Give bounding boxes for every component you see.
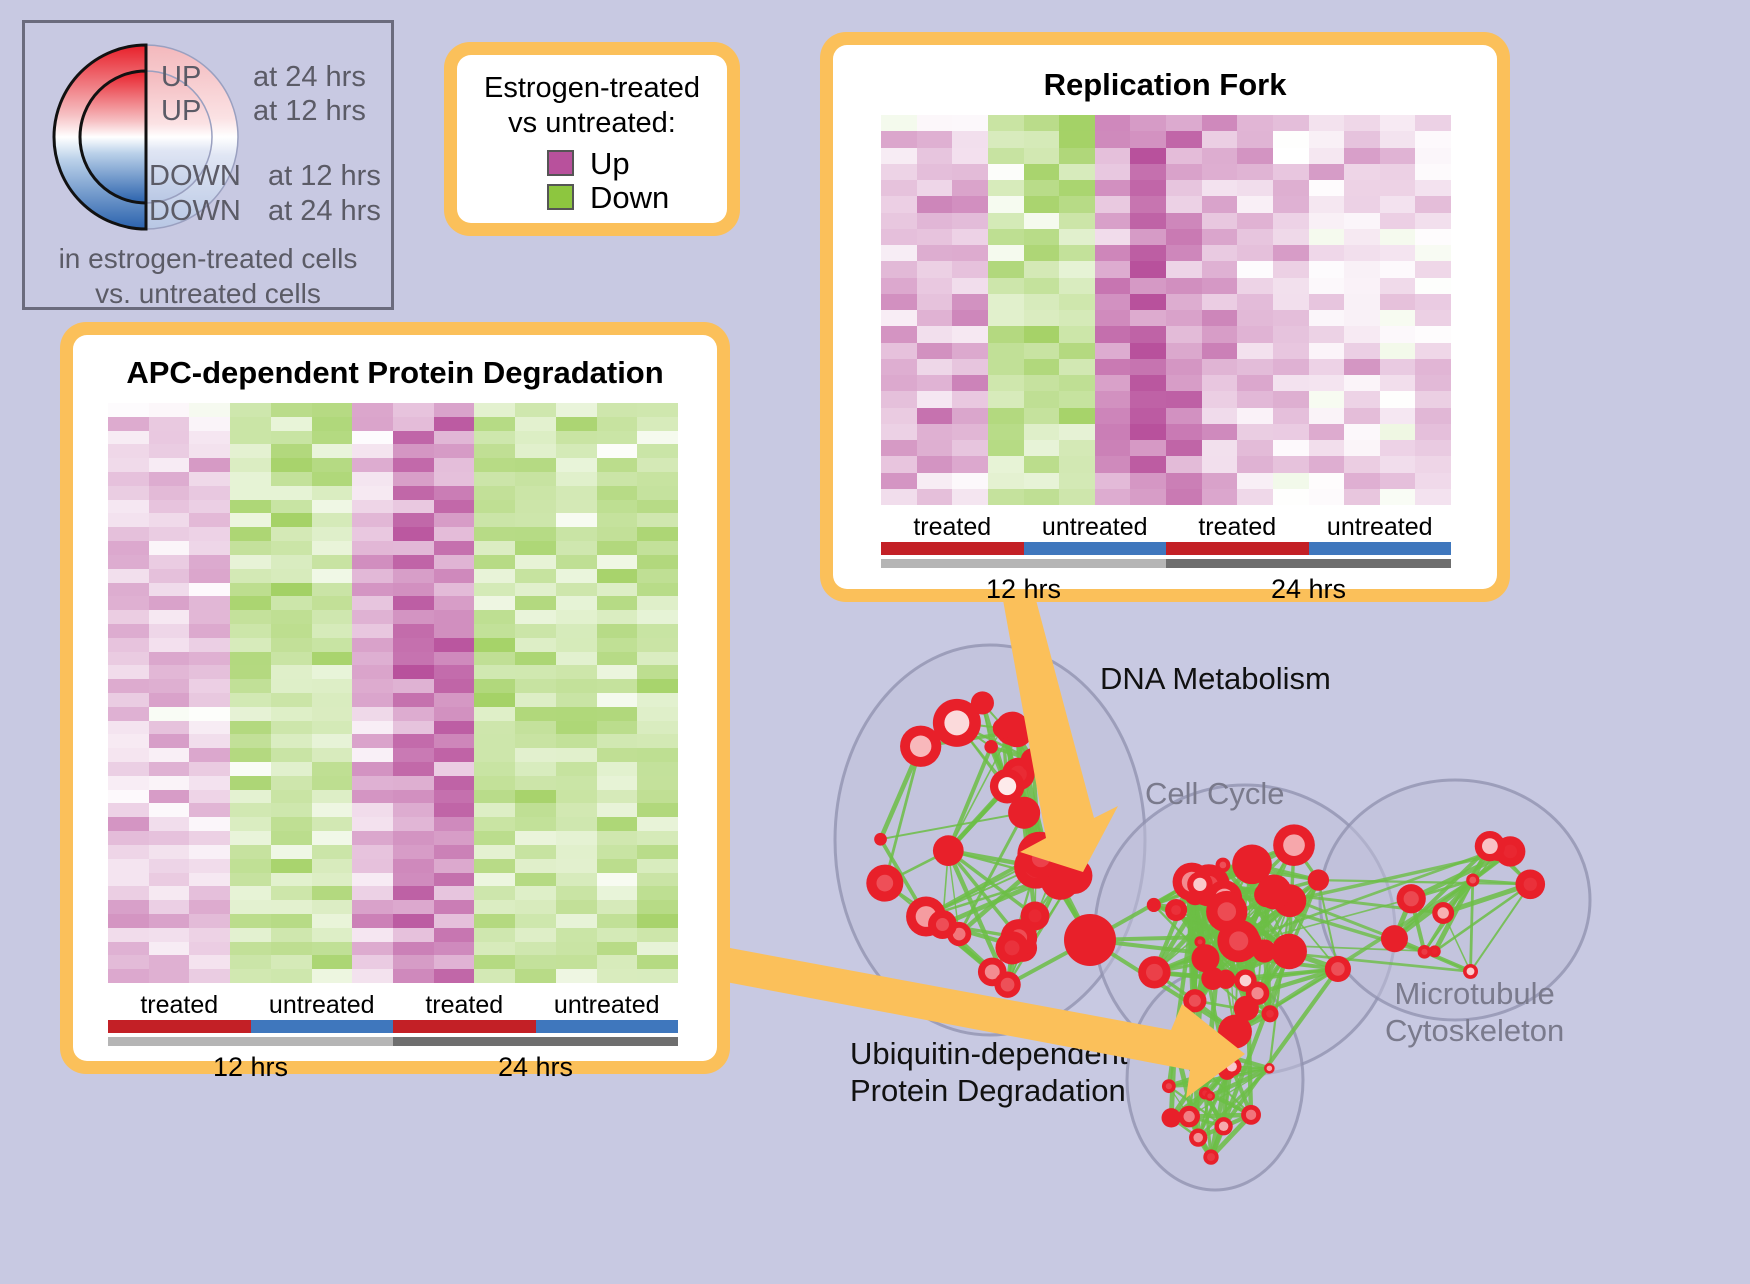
network-node-core: [1331, 962, 1345, 976]
heatmap-cell: [988, 310, 1024, 326]
heatmap-cell: [1273, 278, 1309, 294]
heatmap-cell: [637, 969, 678, 983]
heatmap-cell: [515, 831, 556, 845]
heatmap-cell: [1309, 326, 1345, 342]
heatmap-cell: [952, 326, 988, 342]
heatmap-cell: [149, 513, 190, 527]
heatmap-cell: [1202, 391, 1238, 407]
heatmap-cell: [556, 624, 597, 638]
heatmap-cell: [434, 458, 475, 472]
heatmap-cell: [108, 845, 149, 859]
heatmap-cell: [352, 444, 393, 458]
heatmap-cell: [515, 403, 556, 417]
heatmap-cell: [637, 721, 678, 735]
heatmap-cell: [1024, 148, 1060, 164]
heatmap-cell: [312, 803, 353, 817]
heatmap-cell: [1024, 245, 1060, 261]
heatmap-cell: [597, 942, 638, 956]
heatmap-cell: [149, 665, 190, 679]
heatmap-cell: [881, 180, 917, 196]
heatmap-cell: [917, 343, 953, 359]
heatmap-cell: [1273, 391, 1309, 407]
heatmap-cell: [597, 665, 638, 679]
heatmap-cell: [597, 624, 638, 638]
apc-treatment-bar: [108, 1020, 678, 1033]
heatmap-cell: [189, 886, 230, 900]
rf-treatment-bar: [881, 542, 1451, 555]
heatmap-cell: [189, 707, 230, 721]
heatmap-cell: [393, 527, 434, 541]
heatmap-cell: [474, 914, 515, 928]
heatmap-cell: [1415, 440, 1451, 456]
heatmap-cell: [149, 886, 190, 900]
heatmap-cell: [881, 375, 917, 391]
heatmap-cell: [1059, 278, 1095, 294]
heatmap-cell: [637, 583, 678, 597]
heatmap-cell: [988, 343, 1024, 359]
circle-key-box: UP at 24 hrs UP at 12 hrs DOWN at 12 hrs…: [22, 20, 394, 310]
heatmap-cell: [597, 610, 638, 624]
heatmap-cell: [434, 513, 475, 527]
heatmap-cell: [393, 831, 434, 845]
heatmap-cell: [271, 500, 312, 514]
heatmap-cell: [881, 131, 917, 147]
heatmap-cell: [149, 969, 190, 983]
heatmap-cell: [1024, 213, 1060, 229]
heatmap-cell: [393, 900, 434, 914]
heatmap-cell: [597, 555, 638, 569]
heatmap-cell: [434, 886, 475, 900]
heatmap-cell: [271, 472, 312, 486]
heatmap-cell: [312, 693, 353, 707]
heatmap-cell: [556, 969, 597, 983]
heatmap-cell: [1095, 278, 1131, 294]
heatmap-cell: [434, 955, 475, 969]
heatmap-cell: [352, 665, 393, 679]
heatmap-cell: [352, 596, 393, 610]
heatmap-cell: [1059, 261, 1095, 277]
heatmap-cell: [515, 859, 556, 873]
legend-item-up: Up: [547, 148, 713, 179]
heatmap-cell: [312, 403, 353, 417]
heatmap-cell: [434, 652, 475, 666]
heatmap-cell: [271, 624, 312, 638]
heatmap-cell: [1166, 456, 1202, 472]
heatmap-cell: [597, 790, 638, 804]
heatmap-cell: [597, 569, 638, 583]
heatmap-cell: [352, 527, 393, 541]
heatmap-cell: [434, 693, 475, 707]
heatmap-cell: [271, 748, 312, 762]
heatmap-cell: [1309, 278, 1345, 294]
heatmap-cell: [1415, 326, 1451, 342]
heatmap-cell: [1024, 440, 1060, 456]
heatmap-cell: [597, 873, 638, 887]
heatmap-cell: [988, 229, 1024, 245]
heatmap-cell: [149, 776, 190, 790]
heatmap-cell: [312, 596, 353, 610]
heatmap-cell: [1309, 424, 1345, 440]
network-node-core: [1524, 878, 1537, 891]
heatmap-cell: [515, 610, 556, 624]
heatmap-cell: [917, 408, 953, 424]
heatmap-cell: [1380, 115, 1416, 131]
heatmap-cell: [230, 886, 271, 900]
heatmap-cell: [352, 555, 393, 569]
legend-items: Up Down: [471, 148, 713, 213]
heatmap-cell: [1309, 164, 1345, 180]
heatmap-cell: [1237, 115, 1273, 131]
heatmap-cell: [352, 831, 393, 845]
heatmap-cell: [1130, 326, 1166, 342]
heatmap-cell: [1130, 391, 1166, 407]
heatmap-cell: [230, 472, 271, 486]
heatmap-cell: [1059, 375, 1095, 391]
heatmap-cell: [108, 900, 149, 914]
heatmap-cell: [189, 873, 230, 887]
heatmap-cell: [597, 707, 638, 721]
heatmap-cell: [230, 610, 271, 624]
heatmap-cell: [515, 555, 556, 569]
heatmap-cell: [597, 417, 638, 431]
heatmap-cell: [1059, 456, 1095, 472]
key-time-2: at 12 hrs: [268, 160, 381, 193]
heatmap-cell: [556, 886, 597, 900]
heatmap-cell: [1237, 375, 1273, 391]
heatmap-cell: [1166, 310, 1202, 326]
heatmap-cell: [637, 652, 678, 666]
heatmap-cell: [312, 638, 353, 652]
heatmap-cell: [1059, 326, 1095, 342]
heatmap-cell: [988, 148, 1024, 164]
heatmap-cell: [393, 803, 434, 817]
heatmap-cell: [108, 817, 149, 831]
heatmap-cell: [1059, 196, 1095, 212]
heatmap-cell: [952, 456, 988, 472]
heatmap-cell: [312, 859, 353, 873]
heatmap-cell: [556, 817, 597, 831]
heatmap-cell: [597, 900, 638, 914]
heatmap-cell: [352, 638, 393, 652]
heatmap-cell: [1166, 213, 1202, 229]
rf-timebar-0: [881, 559, 1166, 568]
heatmap-cell: [474, 665, 515, 679]
heatmap-cell: [1273, 180, 1309, 196]
heatmap-cell: [597, 513, 638, 527]
heatmap-cell: [149, 431, 190, 445]
heatmap-cell: [1309, 196, 1345, 212]
heatmap-cell: [556, 652, 597, 666]
network-node: [1021, 748, 1045, 772]
heatmap-cell: [149, 417, 190, 431]
heatmap-cell: [1380, 375, 1416, 391]
heatmap-cell: [952, 391, 988, 407]
heatmap-cell: [352, 776, 393, 790]
heatmap-cell: [352, 859, 393, 873]
heatmap-cell: [1166, 473, 1202, 489]
heatmap-cell: [952, 408, 988, 424]
heatmap-cell: [393, 845, 434, 859]
heatmap-cell: [1380, 180, 1416, 196]
heatmap-cell: [952, 261, 988, 277]
heatmap-cell: [189, 734, 230, 748]
heatmap-cell: [393, 790, 434, 804]
heatmap-cell: [230, 638, 271, 652]
network-node-core: [1193, 1133, 1203, 1143]
heatmap-cell: [556, 859, 597, 873]
heatmap-cell: [393, 610, 434, 624]
heatmap-cell: [597, 458, 638, 472]
heatmap-cell: [474, 583, 515, 597]
heatmap-cell: [597, 679, 638, 693]
heatmap-cell: [515, 458, 556, 472]
heatmap-cell: [230, 831, 271, 845]
heatmap-cell: [230, 790, 271, 804]
heatmap-cell: [1344, 326, 1380, 342]
heatmap-cell: [1273, 473, 1309, 489]
heatmap-cell: [1202, 294, 1238, 310]
legend-swatch-up-icon: [547, 150, 574, 176]
heatmap-cell: [556, 942, 597, 956]
heatmap-cell: [1024, 391, 1060, 407]
heatmap-cell: [149, 652, 190, 666]
heatmap-cell: [637, 776, 678, 790]
heatmap-cell: [1166, 148, 1202, 164]
network-node-core: [1432, 949, 1437, 954]
heatmap-cell: [189, 969, 230, 983]
heatmap-cell: [1059, 408, 1095, 424]
network-node: [1257, 874, 1292, 909]
heatmap-cell: [988, 408, 1024, 424]
heatmap-cell: [393, 707, 434, 721]
apc-time-label-0: 12 hrs: [108, 1046, 393, 1083]
heatmap-cell: [271, 845, 312, 859]
heatmap-cell: [1344, 440, 1380, 456]
heatmap-cell: [189, 748, 230, 762]
heatmap-cell: [312, 734, 353, 748]
network-node-core: [1240, 975, 1252, 987]
heatmap-cell: [952, 180, 988, 196]
heatmap-cell: [1237, 440, 1273, 456]
heatmap-cell: [1166, 294, 1202, 310]
heatmap-cell: [1273, 343, 1309, 359]
heatmap-cell: [271, 431, 312, 445]
heatmap-cell: [1095, 148, 1131, 164]
heatmap-cell: [189, 555, 230, 569]
heatmap-cell: [988, 375, 1024, 391]
heatmap-cell: [189, 803, 230, 817]
heatmap-cell: [881, 424, 917, 440]
heatmap-cell: [515, 707, 556, 721]
network-node-core: [1437, 907, 1448, 918]
heatmap-cell: [434, 486, 475, 500]
heatmap-cell: [352, 900, 393, 914]
heatmap-cell: [474, 969, 515, 983]
heatmap-cell: [1202, 375, 1238, 391]
heatmap-cell: [393, 431, 434, 445]
heatmap-cell: [352, 845, 393, 859]
heatmap-cell: [952, 148, 988, 164]
heatmap-cell: [230, 721, 271, 735]
heatmap-cell: [1309, 229, 1345, 245]
heatmap-cell: [1344, 489, 1380, 505]
heatmap-cell: [597, 776, 638, 790]
heatmap-cell: [515, 928, 556, 942]
heatmap-cell: [1237, 229, 1273, 245]
heatmap-cell: [1273, 196, 1309, 212]
replication-fork-panel: Replication Fork treated untreated treat…: [820, 32, 1510, 602]
network-node: [933, 835, 964, 866]
heatmap-cell: [597, 831, 638, 845]
heatmap-cell: [1059, 148, 1095, 164]
heatmap-cell: [881, 489, 917, 505]
heatmap-cell: [149, 527, 190, 541]
heatmap-cell: [881, 196, 917, 212]
heatmap-cell: [393, 679, 434, 693]
heatmap-cell: [474, 693, 515, 707]
heatmap-cell: [1344, 278, 1380, 294]
heatmap-cell: [108, 569, 149, 583]
heatmap-cell: [1095, 310, 1131, 326]
heatmap-cell: [556, 596, 597, 610]
heatmap-cell: [434, 942, 475, 956]
heatmap-cell: [393, 734, 434, 748]
heatmap-cell: [637, 748, 678, 762]
heatmap-cell: [1166, 229, 1202, 245]
heatmap-cell: [393, 513, 434, 527]
network-node-core: [1404, 891, 1419, 906]
heatmap-cell: [474, 652, 515, 666]
heatmap-cell: [1237, 343, 1273, 359]
apc-group-label-1: untreated: [251, 991, 394, 1020]
heatmap-cell: [108, 472, 149, 486]
heatmap-cell: [149, 624, 190, 638]
heatmap-cell: [556, 583, 597, 597]
heatmap-cell: [230, 803, 271, 817]
network-node: [1234, 996, 1259, 1021]
apc-degradation-axis: treated untreated treated untreated 12 h: [108, 991, 678, 1083]
heatmap-cell: [352, 914, 393, 928]
heatmap-cell: [556, 845, 597, 859]
heatmap-cell: [1273, 310, 1309, 326]
heatmap-cell: [108, 776, 149, 790]
heatmap-cell: [230, 817, 271, 831]
heatmap-cell: [1237, 245, 1273, 261]
heatmap-cell: [271, 541, 312, 555]
heatmap-cell: [312, 817, 353, 831]
heatmap-cell: [271, 707, 312, 721]
heatmap-cell: [1059, 391, 1095, 407]
heatmap-cell: [1024, 196, 1060, 212]
heatmap-cell: [1095, 294, 1131, 310]
heatmap-cell: [597, 472, 638, 486]
heatmap-cell: [1273, 440, 1309, 456]
heatmap-cell: [271, 790, 312, 804]
heatmap-cell: [1024, 408, 1060, 424]
rf-group-label-0: treated: [881, 513, 1024, 542]
apc-degradation-heatmap: [108, 403, 678, 983]
heatmap-cell: [434, 624, 475, 638]
heatmap-cell: [1095, 440, 1131, 456]
heatmap-cell: [1024, 456, 1060, 472]
heatmap-cell: [1415, 148, 1451, 164]
heatmap-cell: [1024, 359, 1060, 375]
heatmap-cell: [1237, 213, 1273, 229]
heatmap-cell: [637, 610, 678, 624]
heatmap-cell: [352, 500, 393, 514]
heatmap-cell: [352, 583, 393, 597]
heatmap-cell: [637, 555, 678, 569]
heatmap-cell: [474, 458, 515, 472]
heatmap-cell: [434, 541, 475, 555]
heatmap-cell: [149, 444, 190, 458]
heatmap-cell: [474, 638, 515, 652]
heatmap-cell: [1166, 375, 1202, 391]
network-node-core: [1032, 849, 1050, 867]
heatmap-cell: [230, 707, 271, 721]
heatmap-cell: [271, 831, 312, 845]
heatmap-cell: [1130, 196, 1166, 212]
heatmap-cell: [1344, 148, 1380, 164]
heatmap-cell: [1130, 115, 1166, 131]
heatmap-cell: [1059, 359, 1095, 375]
heatmap-cell: [515, 873, 556, 887]
heatmap-cell: [637, 431, 678, 445]
network-node-core: [1246, 1110, 1256, 1120]
heatmap-cell: [230, 914, 271, 928]
heatmap-cell: [881, 359, 917, 375]
heatmap-cell: [556, 431, 597, 445]
heatmap-cell: [1059, 164, 1095, 180]
heatmap-cell: [597, 486, 638, 500]
heatmap-cell: [312, 928, 353, 942]
heatmap-cell: [556, 679, 597, 693]
heatmap-cell: [556, 444, 597, 458]
heatmap-cell: [515, 693, 556, 707]
heatmap-cell: [881, 229, 917, 245]
heatmap-cell: [189, 845, 230, 859]
heatmap-cell: [1380, 310, 1416, 326]
heatmap-cell: [149, 693, 190, 707]
heatmap-cell: [474, 555, 515, 569]
heatmap-cell: [230, 458, 271, 472]
heatmap-cell: [952, 359, 988, 375]
heatmap-cell: [1024, 229, 1060, 245]
heatmap-cell: [434, 555, 475, 569]
heatmap-cell: [352, 610, 393, 624]
heatmap-cell: [189, 928, 230, 942]
network-node-core: [1005, 940, 1020, 955]
heatmap-cell: [474, 541, 515, 555]
heatmap-cell: [1273, 326, 1309, 342]
heatmap-cell: [1344, 408, 1380, 424]
heatmap-cell: [271, 721, 312, 735]
heatmap-cell: [312, 762, 353, 776]
heatmap-cell: [1059, 115, 1095, 131]
heatmap-cell: [917, 294, 953, 310]
heatmap-cell: [637, 900, 678, 914]
heatmap-cell: [352, 969, 393, 983]
heatmap-cell: [312, 900, 353, 914]
heatmap-cell: [474, 748, 515, 762]
heatmap-cell: [1130, 245, 1166, 261]
heatmap-cell: [393, 748, 434, 762]
heatmap-cell: [917, 213, 953, 229]
network-node: [1271, 934, 1307, 970]
heatmap-cell: [515, 762, 556, 776]
heatmap-cell: [108, 513, 149, 527]
heatmap-cell: [1166, 196, 1202, 212]
